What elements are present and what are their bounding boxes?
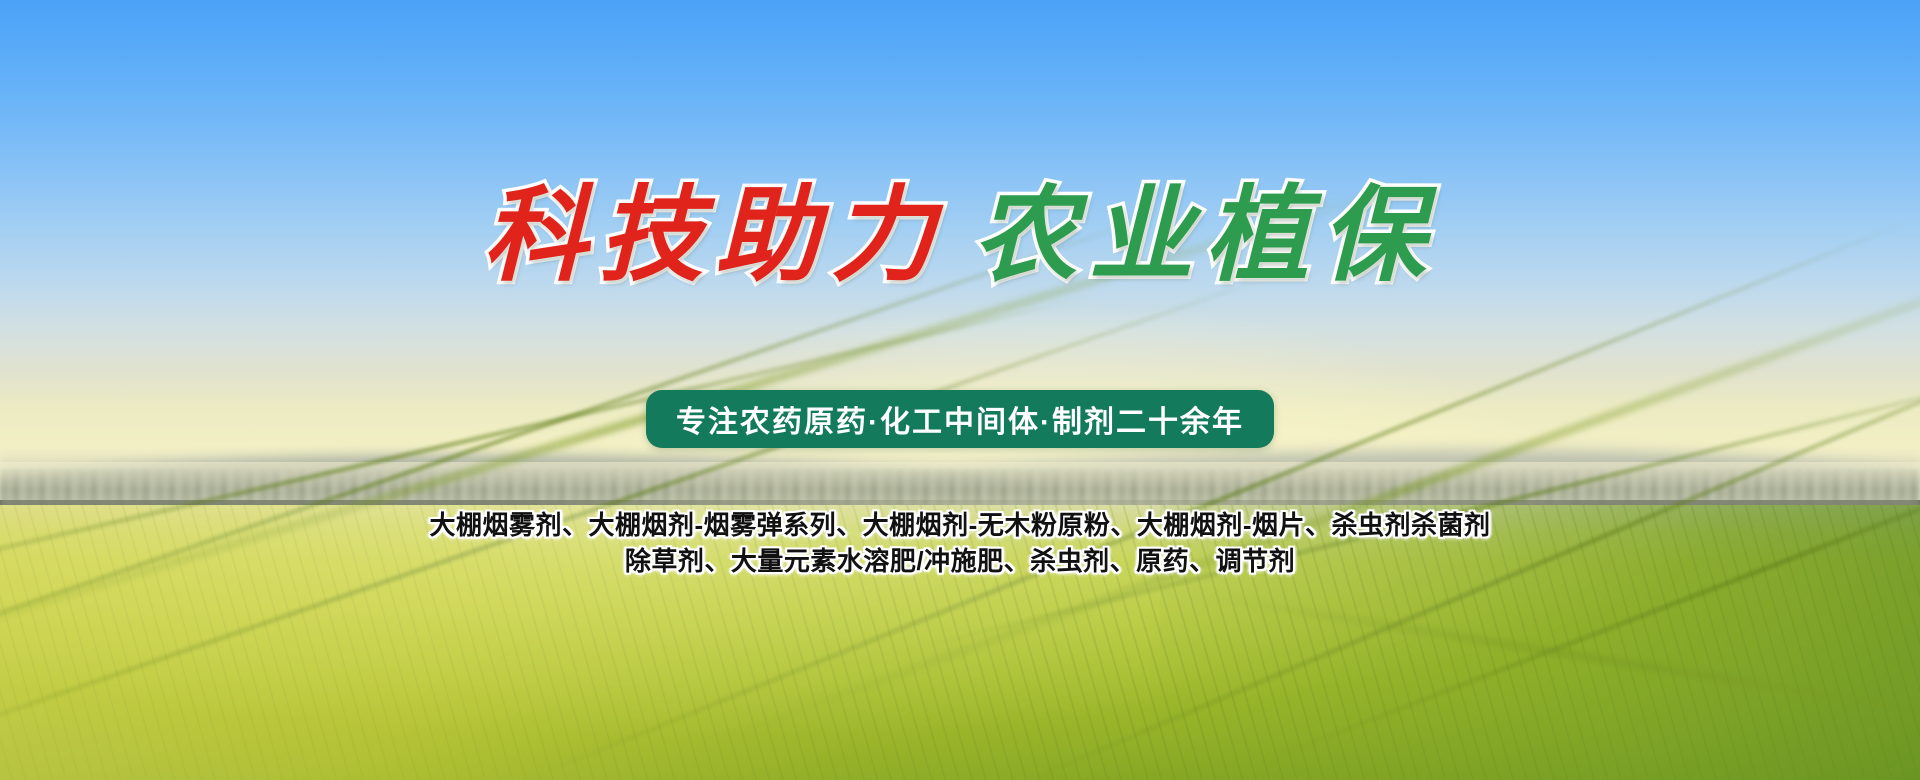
tagline-badge: 专注农药原药·化工中间体·制剂二十余年 (646, 390, 1274, 448)
hero-banner: 科技助力农业植保 专注农药原药·化工中间体·制剂二十余年 大棚烟雾剂、大棚烟剂-… (0, 0, 1920, 780)
banner-headline: 科技助力农业植保 (0, 176, 1920, 299)
headline-segment-red: 科技助力 (483, 176, 947, 299)
product-list-line-2: 除草剂、大量元素水溶肥/冲施肥、杀虫剂、原药、调节剂 (0, 541, 1920, 578)
headline-segment-green: 农业植保 (973, 176, 1437, 299)
tagline-badge-wrapper: 专注农药原药·化工中间体·制剂二十余年 (0, 390, 1920, 448)
product-list-line-1: 大棚烟雾剂、大棚烟剂-烟雾弹系列、大棚烟剂-无木粉原粉、大棚烟剂-烟片、杀虫剂杀… (0, 505, 1920, 542)
